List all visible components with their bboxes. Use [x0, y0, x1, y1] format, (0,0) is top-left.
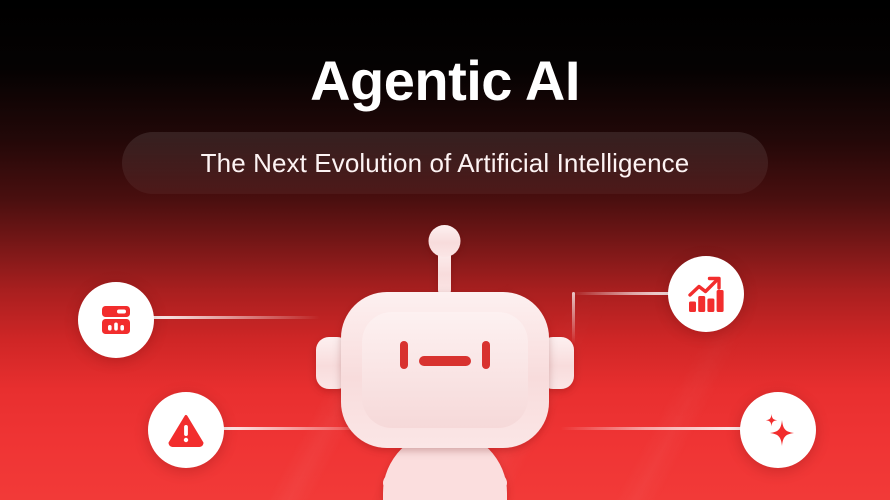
robot-antenna: [429, 225, 461, 296]
icon-badge-chart[interactable]: [668, 256, 744, 332]
robot-head: [341, 292, 549, 448]
icon-badge-alert[interactable]: [148, 392, 224, 468]
robot-left-eye: [400, 341, 408, 369]
icon-badge-dashboard[interactable]: [78, 282, 154, 358]
hero-banner: Agentic AI The Next Evolution of Artific…: [0, 0, 890, 500]
icon-badge-sparkle[interactable]: [740, 392, 816, 468]
warning-triangle-icon: [166, 410, 206, 450]
robot-right-eye: [482, 341, 490, 369]
dashboard-window-icon: [96, 300, 136, 340]
sparkle-ai-icon: [758, 410, 798, 450]
growth-chart-icon: [685, 273, 727, 315]
robot-mouth: [419, 356, 471, 366]
